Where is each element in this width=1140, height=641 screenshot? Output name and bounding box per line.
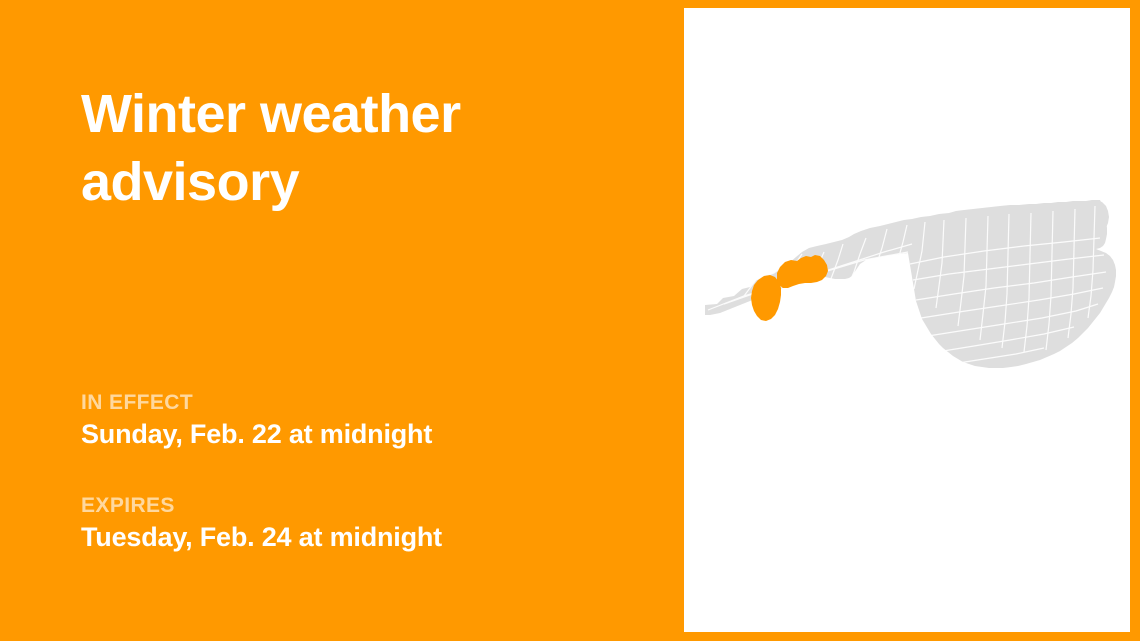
in-effect-label: IN EFFECT: [81, 390, 641, 415]
highlighted-advisory-counties: [751, 255, 828, 321]
weather-advisory-graphic: Winter weather advisory IN EFFECT Sunday…: [0, 0, 1140, 641]
expires-block: EXPIRES Tuesday, Feb. 24 at midnight: [81, 493, 641, 554]
expires-label: EXPIRES: [81, 493, 641, 518]
expires-value: Tuesday, Feb. 24 at midnight: [81, 521, 641, 554]
advisory-info-panel: Winter weather advisory IN EFFECT Sunday…: [0, 0, 684, 641]
in-effect-block: IN EFFECT Sunday, Feb. 22 at midnight: [81, 390, 641, 451]
map-panel: [684, 8, 1130, 632]
north-carolina-county-map: [684, 8, 1130, 632]
advisory-title: Winter weather advisory: [81, 80, 601, 216]
in-effect-value: Sunday, Feb. 22 at midnight: [81, 418, 641, 451]
